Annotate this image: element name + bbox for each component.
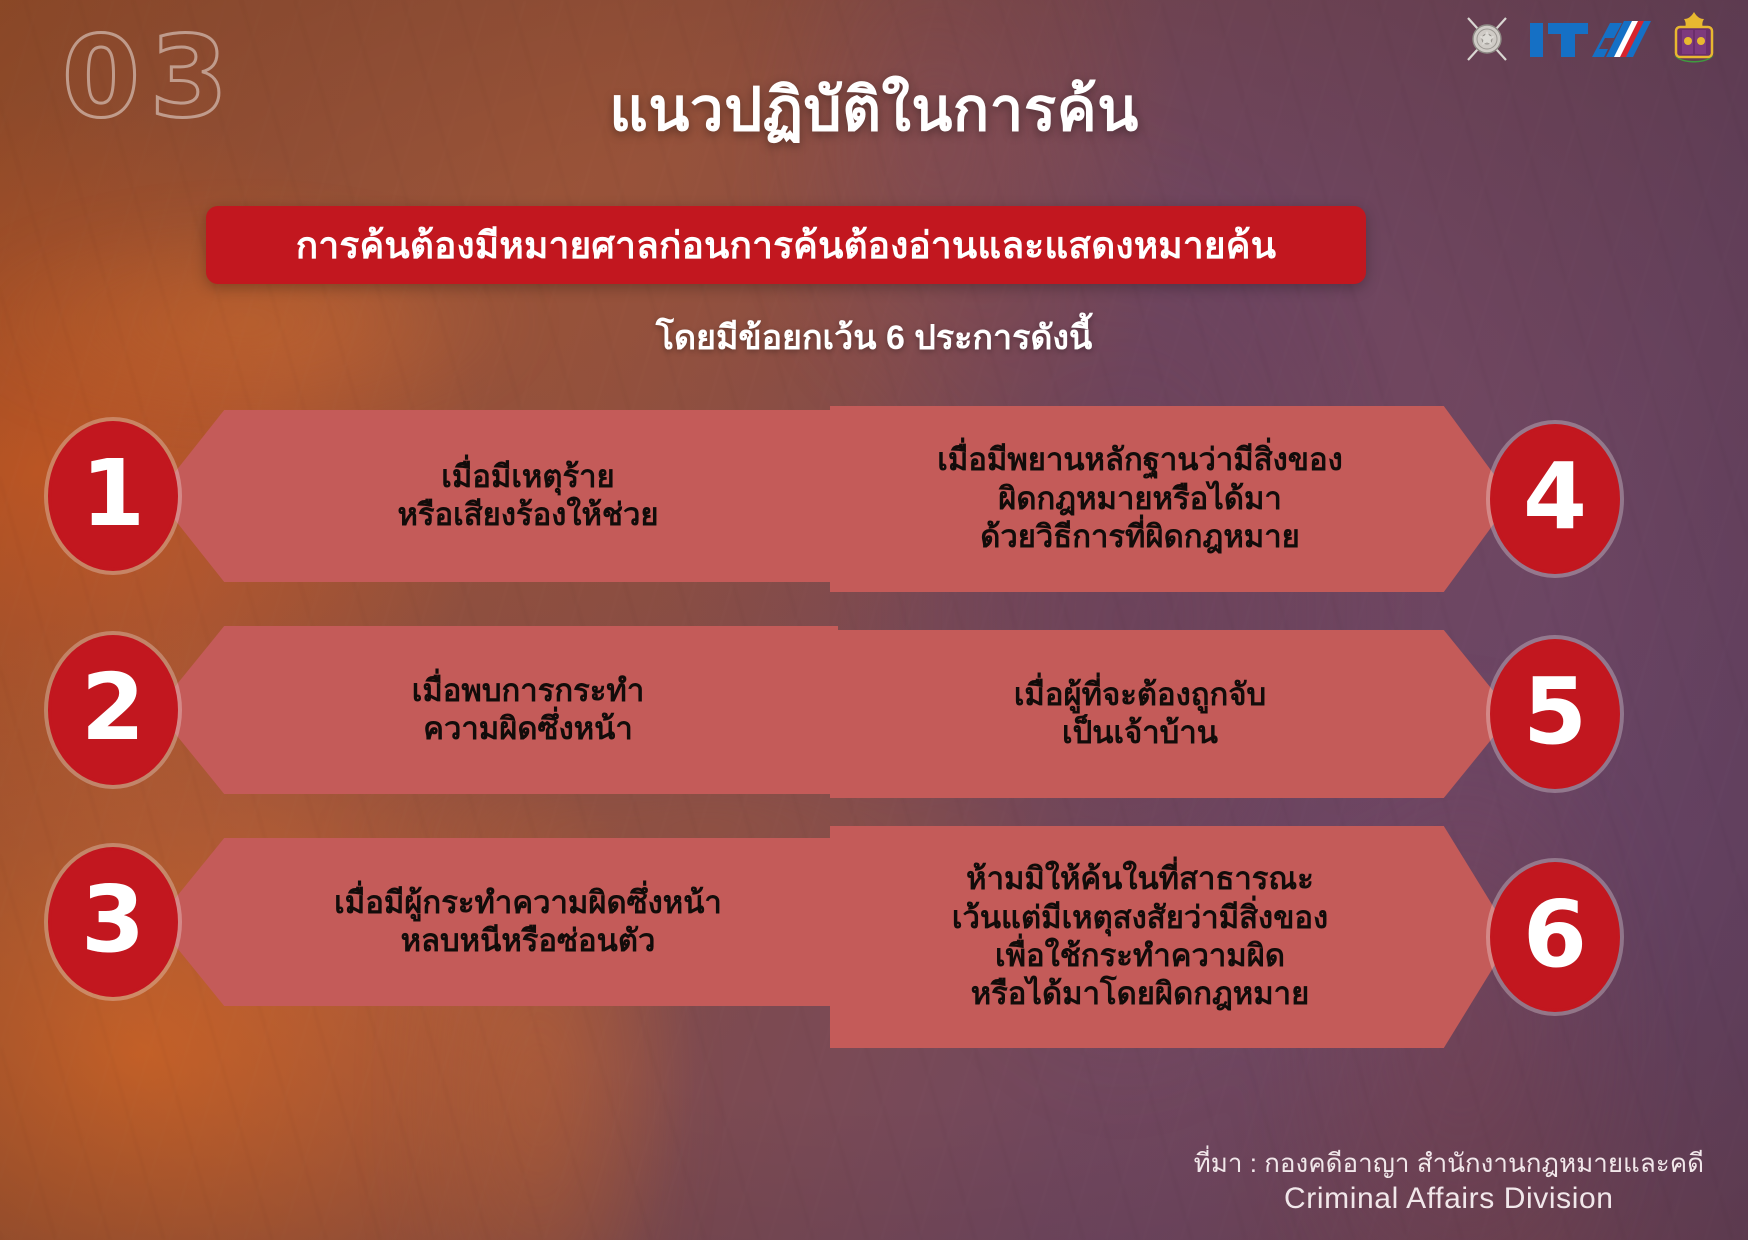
item-arrow-panel: เมื่อมีเหตุร้าย หรือเสียงร้องให้ช่วย [156,410,838,582]
item-number-label: 1 [81,448,145,540]
item-arrow-panel: ห้ามมิให้ค้นในที่สาธารณะ เว้นแต่มีเหตุสง… [830,826,1512,1048]
exception-item-3[interactable]: 3 เมื่อมีผู้กระทำความผิดซึ่งหน้า หลบหนีห… [48,838,838,1006]
item-arrow-panel: เมื่อมีพยานหลักฐานว่ามีสิ่งของ ผิดกฎหมาย… [830,406,1512,592]
exception-item-6[interactable]: 6 ห้ามมิให้ค้นในที่สาธารณะ เว้นแต่มีเหตุ… [830,826,1620,1048]
item-arrow-panel: เมื่อมีผู้กระทำความผิดซึ่งหน้า หลบหนีหรื… [156,838,838,1006]
item-number-label: 6 [1523,889,1587,981]
item-number-badge: 3 [48,847,178,997]
footer-source-th: ที่มา : กองคดีอาญา สำนักงานกฎหมายและคดี [1194,1147,1704,1180]
item-text: เมื่อมีผู้กระทำความผิดซึ่งหน้า หลบหนีหรื… [272,884,722,961]
exception-item-1[interactable]: 1 เมื่อมีเหตุร้าย หรือเสียงร้องให้ช่วย [48,410,838,582]
subtitle: โดยมีข้อยกเว้น 6 ประการดังนี้ [0,310,1748,364]
logo-group [1458,10,1720,68]
exception-item-5[interactable]: 5 เมื่อผู้ที่จะต้องถูกจับ เป็นเจ้าบ้าน [830,630,1620,798]
item-text: เมื่อมีพยานหลักฐานว่ามีสิ่งของ ผิดกฎหมาย… [937,441,1404,556]
ita-logo [1528,13,1656,65]
items-column-right: 4 เมื่อมีพยานหลักฐานว่ามีสิ่งของ ผิดกฎหม… [830,398,1620,1058]
item-text: เมื่อมีเหตุร้าย หรือเสียงร้องให้ช่วย [335,458,658,535]
item-text: เมื่อพบการกระทำ ความผิดซึ่งหน้า [350,672,645,749]
item-number-badge: 4 [1490,424,1620,574]
banner-text: การค้นต้องมีหมายศาลก่อนการค้นต้องอ่านและ… [296,216,1276,275]
item-arrow-panel: เมื่อพบการกระทำ ความผิดซึ่งหน้า [156,626,838,794]
item-number-badge: 1 [48,421,178,571]
footer-source: ที่มา : กองคดีอาญา สำนักงานกฎหมายและคดี … [1194,1147,1704,1219]
item-arrow-panel: เมื่อผู้ที่จะต้องถูกจับ เป็นเจ้าบ้าน [830,630,1512,798]
exception-item-2[interactable]: 2 เมื่อพบการกระทำ ความผิดซึ่งหน้า [48,626,838,794]
infographic-page: 03 [0,0,1748,1240]
exception-item-4[interactable]: 4 เมื่อมีพยานหลักฐานว่ามีสิ่งของ ผิดกฎหม… [830,406,1620,592]
item-number-label: 3 [81,874,145,966]
main-banner: การค้นต้องมีหมายศาลก่อนการค้นต้องอ่านและ… [206,206,1366,284]
item-number-badge: 6 [1490,862,1620,1012]
footer-source-en: Criminal Affairs Division [1194,1179,1704,1218]
department-emblem-logo [1668,10,1720,68]
page-title: แนวปฏิบัติในการค้น [0,62,1748,157]
item-number-label: 2 [81,662,145,754]
exception-items-grid: 1 เมื่อมีเหตุร้าย หรือเสียงร้องให้ช่วย 2… [0,398,1748,1058]
police-emblem-logo [1458,10,1516,68]
item-number-badge: 5 [1490,639,1620,789]
item-number-label: 5 [1523,666,1587,758]
items-column-left: 1 เมื่อมีเหตุร้าย หรือเสียงร้องให้ช่วย 2… [48,398,838,1058]
item-text: ห้ามมิให้ค้นในที่สาธารณะ เว้นแต่มีเหตุสง… [952,860,1390,1014]
item-number-label: 4 [1523,451,1587,543]
item-number-badge: 2 [48,635,178,785]
item-text: เมื่อผู้ที่จะต้องถูกจับ เป็นเจ้าบ้าน [1014,676,1328,753]
